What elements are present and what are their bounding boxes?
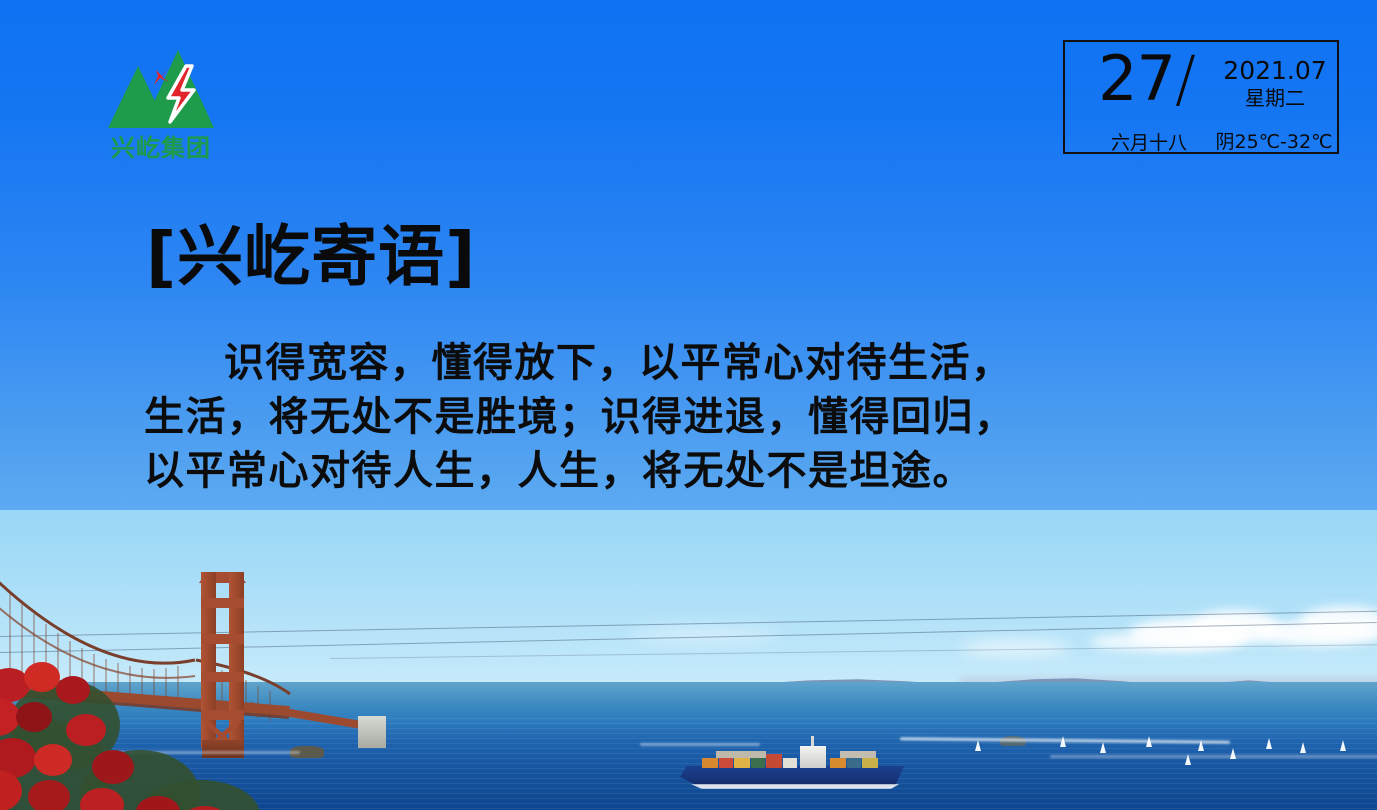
sailboat <box>975 740 981 751</box>
year-month: 2021.07 <box>1215 56 1335 85</box>
bay-photo <box>0 510 1377 810</box>
sailboat <box>1230 748 1236 759</box>
water-wake <box>640 743 760 746</box>
ship-bridgehouse <box>800 746 826 768</box>
container <box>862 758 878 768</box>
sailboat <box>1300 742 1306 753</box>
container-ship <box>680 748 910 792</box>
water-wake <box>1050 755 1377 758</box>
red-flower-bush <box>0 640 270 810</box>
sailboat <box>1146 736 1152 747</box>
sailboat <box>1266 738 1272 749</box>
date-slash: / <box>1175 42 1196 115</box>
sailboat <box>1185 754 1191 765</box>
weekday: 星期二 <box>1215 85 1335 112</box>
page-title: [兴屹寄语] <box>146 219 476 295</box>
logo-wordmark: 兴屹集团 <box>100 128 222 163</box>
container <box>847 758 861 768</box>
date-right-group: 2021.07 星期二 <box>1215 56 1335 112</box>
sailboat <box>1060 736 1066 747</box>
ship-mast <box>811 736 814 746</box>
quote-line: 以平常心对待人生，人生，将无处不是坦途。 <box>144 444 1214 498</box>
tower-crossbeam <box>201 598 244 608</box>
poster-canvas: 兴屹集团 27/ 六月十八 2021.07 星期二 阴25℃-32℃ [兴屹寄语… <box>0 0 1377 810</box>
date-card: 27/ 六月十八 2021.07 星期二 阴25℃-32℃ <box>1063 40 1339 154</box>
date-day: 27 <box>1098 42 1175 115</box>
container <box>734 758 750 768</box>
container <box>783 758 797 768</box>
weather-info: 阴25℃-32℃ <box>1211 127 1337 154</box>
date-day-group: 27/ <box>1073 48 1221 110</box>
company-logo[interactable]: 兴屹集团 <box>100 44 222 164</box>
container <box>766 754 782 768</box>
sailboat <box>1340 740 1346 751</box>
lunar-date: 六月十八 <box>1079 128 1219 155</box>
quote-line: 识得宽容，懂得放下，以平常心对待生活， <box>144 336 1214 390</box>
sailboat <box>1198 740 1204 751</box>
sailboat <box>1100 742 1106 753</box>
ship-waterline <box>682 784 904 789</box>
quote-block: 识得宽容，懂得放下，以平常心对待生活， 生活，将无处不是胜境；识得进退，懂得回归… <box>144 336 1214 498</box>
container <box>716 751 766 758</box>
ship-hull <box>680 766 904 786</box>
container <box>840 751 876 758</box>
container <box>751 758 765 768</box>
container <box>719 758 733 768</box>
quote-line: 生活，将无处不是胜境；识得进退，懂得回归， <box>144 390 1214 444</box>
container <box>830 758 846 768</box>
fort-point-building <box>358 716 386 748</box>
container <box>702 758 718 768</box>
